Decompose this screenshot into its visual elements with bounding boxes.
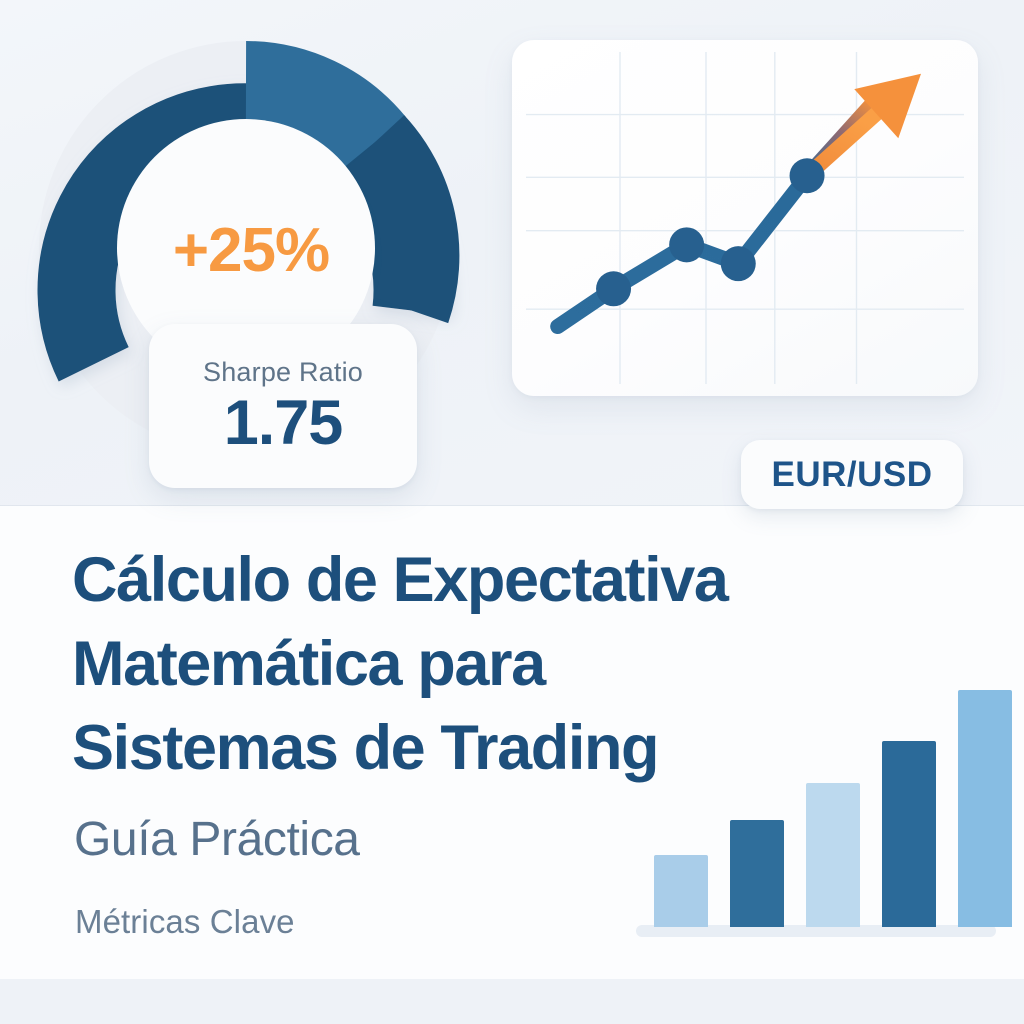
metric-bar xyxy=(730,820,784,927)
equity-data-point xyxy=(669,227,704,262)
headline-tertiary: Métricas Clave xyxy=(75,903,295,941)
equity-curve-card xyxy=(512,40,978,396)
headline-line-1: Cálculo de Expectativa xyxy=(72,538,902,622)
equity-data-point xyxy=(721,246,756,281)
footer-band xyxy=(0,979,1024,1024)
metric-bar xyxy=(654,855,708,927)
poster-canvas: +25% Sharpe Ratio 1.75 xyxy=(0,0,1024,1024)
equity-data-points xyxy=(596,158,825,306)
metric-bar xyxy=(958,690,1012,927)
equity-curve-chart xyxy=(512,40,978,396)
metrics-bar-chart xyxy=(636,660,996,945)
currency-pair-label: EUR/USD xyxy=(771,455,932,495)
headline-subtitle: Guía Práctica xyxy=(74,812,360,867)
metric-bar xyxy=(882,741,936,927)
equity-data-point xyxy=(790,158,825,193)
sharpe-ratio-label: Sharpe Ratio xyxy=(203,357,363,388)
performance-gauge: +25% Sharpe Ratio 1.75 xyxy=(22,24,470,472)
gauge-percent-value: +25% xyxy=(126,210,376,290)
currency-pair-badge[interactable]: EUR/USD xyxy=(741,440,963,509)
sharpe-ratio-value: 1.75 xyxy=(224,392,343,455)
equity-data-point xyxy=(596,271,631,306)
metric-bar xyxy=(806,783,860,928)
sharpe-ratio-card: Sharpe Ratio 1.75 xyxy=(149,324,417,488)
